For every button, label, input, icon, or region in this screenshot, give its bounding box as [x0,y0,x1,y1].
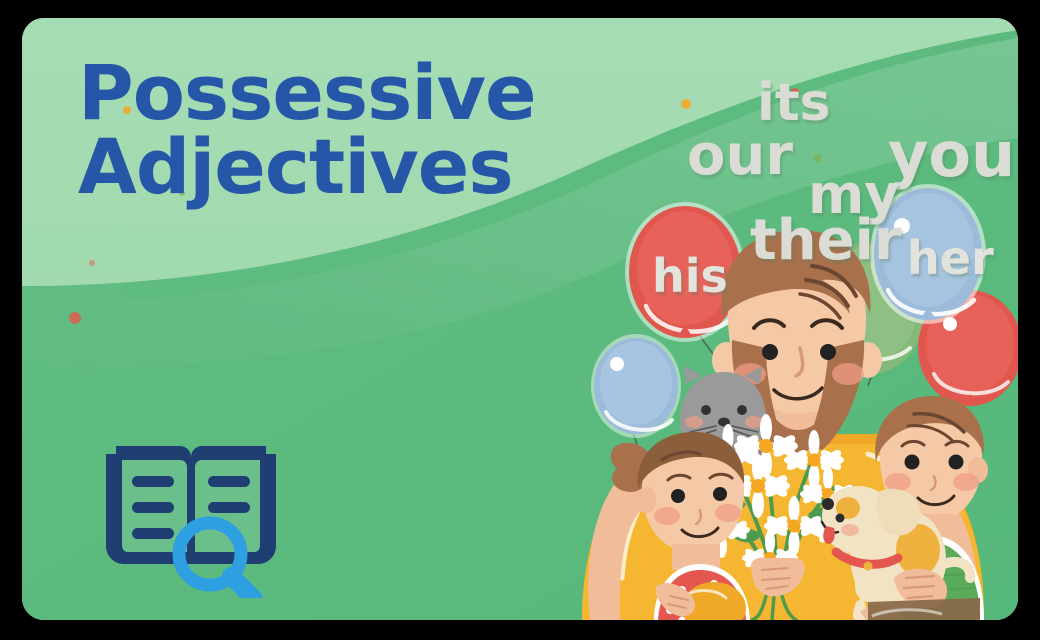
balloon-word-his: his [652,249,728,303]
screenshot-root: Possessive Adjectives [0,0,1040,640]
page-title: Possessive Adjectives [78,56,536,205]
girl-figure [588,432,750,620]
floating-word-you: you [888,118,1015,191]
balloon-blue-left [591,334,681,438]
open-book-with-magnifier-icon[interactable] [100,436,282,598]
lesson-card: Possessive Adjectives [22,18,1018,620]
balloon-word-her: her [907,231,994,285]
floating-word-their: their [750,208,901,273]
floating-word-our: our [687,123,793,188]
